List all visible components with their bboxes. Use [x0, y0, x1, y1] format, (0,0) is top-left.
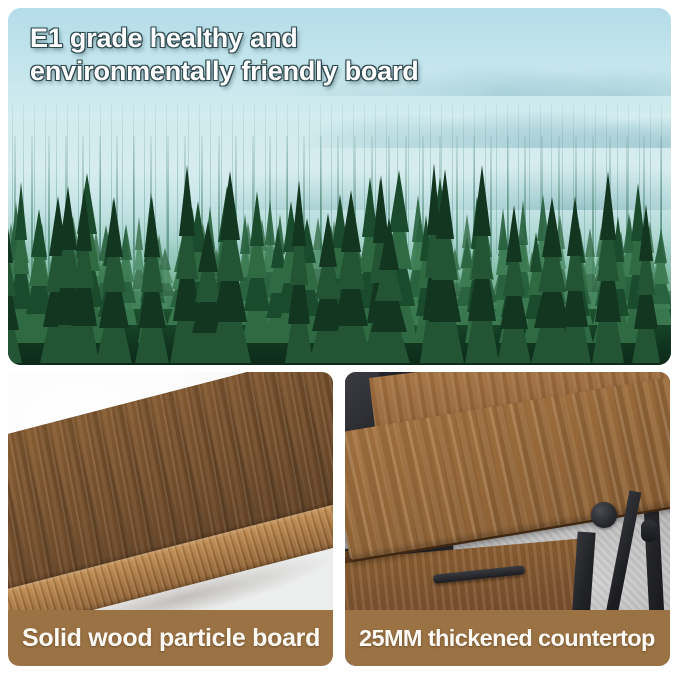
panel-solid-wood-particle-board: Solid wood particle board [8, 372, 333, 666]
conifer-layer-foreground [8, 135, 671, 365]
conifer-tree [464, 152, 500, 363]
conifer-tree [632, 193, 661, 363]
conifer-tree [559, 184, 592, 363]
conifer-tree [209, 158, 251, 363]
conifer-tree [591, 157, 624, 363]
caption-label-right: 25MM thickened countertop [345, 625, 655, 652]
panel-thickened-countertop: 25MM thickened countertop [345, 372, 670, 666]
caption-bar-left: Solid wood particle board [8, 610, 333, 666]
caption-label-left: Solid wood particle board [8, 624, 320, 653]
conifer-tree [368, 208, 411, 363]
conifer-tree [426, 156, 465, 363]
caption-bar-right: 25MM thickened countertop [345, 610, 670, 666]
headline-line-2: environmentally friendly board [30, 55, 590, 88]
forest-banner: E1 grade healthy and environmentally fri… [8, 8, 671, 365]
conifer-tree [497, 195, 531, 363]
product-feature-image: E1 grade healthy and environmentally fri… [0, 0, 679, 674]
headline-line-1: E1 grade healthy and [30, 22, 590, 55]
conifer-tree [135, 186, 170, 363]
frame-pivot-joint [591, 502, 617, 528]
banner-headline: E1 grade healthy and environmentally fri… [30, 22, 590, 89]
desk-caster [641, 520, 657, 542]
feature-panels: Solid wood particle board 25MM thickened… [8, 372, 671, 666]
conifer-tree [8, 196, 22, 363]
conifer-tree [95, 186, 132, 363]
